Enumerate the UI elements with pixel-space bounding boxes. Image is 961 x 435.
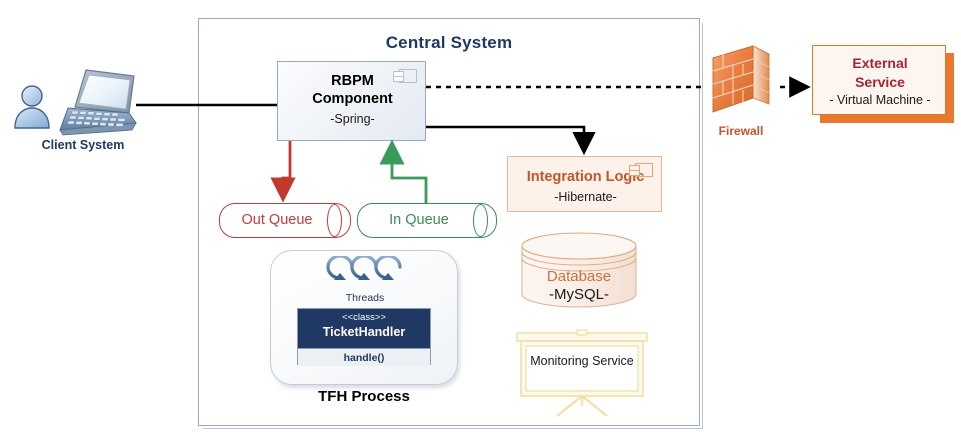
- laptop-icon: [60, 70, 136, 135]
- external-service-node: External Service - Virtual Machine -: [812, 45, 954, 123]
- uml-component-icon-tab: [393, 76, 404, 82]
- rbpm-title-line-1: RBPM: [331, 73, 374, 89]
- monitoring-service-label: Monitoring Service: [511, 354, 653, 368]
- external-service-title-line-2: Service: [855, 74, 905, 90]
- ticket-handler-operation: handle(): [298, 348, 430, 366]
- integration-logic-subtitle: -Hibernate-: [508, 190, 663, 204]
- ticket-handler-name: TicketHandler: [298, 325, 430, 339]
- tfh-process-label: TFH Process: [255, 388, 473, 405]
- ticket-handler-header: <<class>> TicketHandler: [298, 309, 430, 348]
- out-queue-label: Out Queue: [219, 203, 349, 236]
- external-service-title-line-1: External: [852, 55, 907, 71]
- projector-screen-icon: [511, 328, 653, 420]
- external-service-title: External Service: [813, 54, 947, 92]
- client-system-icons: [8, 66, 158, 138]
- ticket-handler-stereotype: <<class>>: [298, 312, 430, 323]
- uml-component-icon: [393, 69, 417, 81]
- client-system-label: Client System: [8, 138, 158, 152]
- brick-wall-icon: [703, 44, 779, 122]
- out-queue-node: Out Queue: [219, 203, 349, 236]
- external-service-subtitle: - Virtual Machine -: [813, 93, 947, 107]
- central-system-title: Central System: [199, 33, 699, 53]
- firewall-label: Firewall: [703, 124, 779, 138]
- database-label: Database: [518, 268, 640, 285]
- database-subtitle: -MySQL-: [518, 286, 640, 303]
- threads-label: Threads: [271, 292, 459, 304]
- firewall-node: Firewall: [703, 44, 779, 144]
- client-system-node: Client System: [8, 66, 158, 158]
- ticket-handler-class-box: <<class>> TicketHandler handle(): [297, 308, 431, 365]
- architecture-diagram: Central System: [0, 0, 961, 435]
- rbpm-component-subtitle: -Spring-: [278, 112, 427, 126]
- database-node: Database -MySQL-: [518, 232, 640, 310]
- monitoring-service-node: Monitoring Service: [511, 328, 653, 420]
- rbpm-title-line-2: Component: [312, 91, 393, 107]
- uml-component-icon: [629, 163, 653, 175]
- rbpm-component-node: RBPM Component -Spring-: [277, 61, 426, 141]
- uml-component-icon-tab: [629, 170, 640, 176]
- in-queue-node: In Queue: [357, 203, 495, 236]
- external-service-box: External Service - Virtual Machine -: [812, 45, 946, 115]
- threads-loop-icon: [322, 256, 408, 290]
- in-queue-label: In Queue: [357, 203, 495, 236]
- user-icon: [15, 86, 49, 128]
- integration-logic-node: Integration Logic -Hibernate-: [507, 156, 662, 212]
